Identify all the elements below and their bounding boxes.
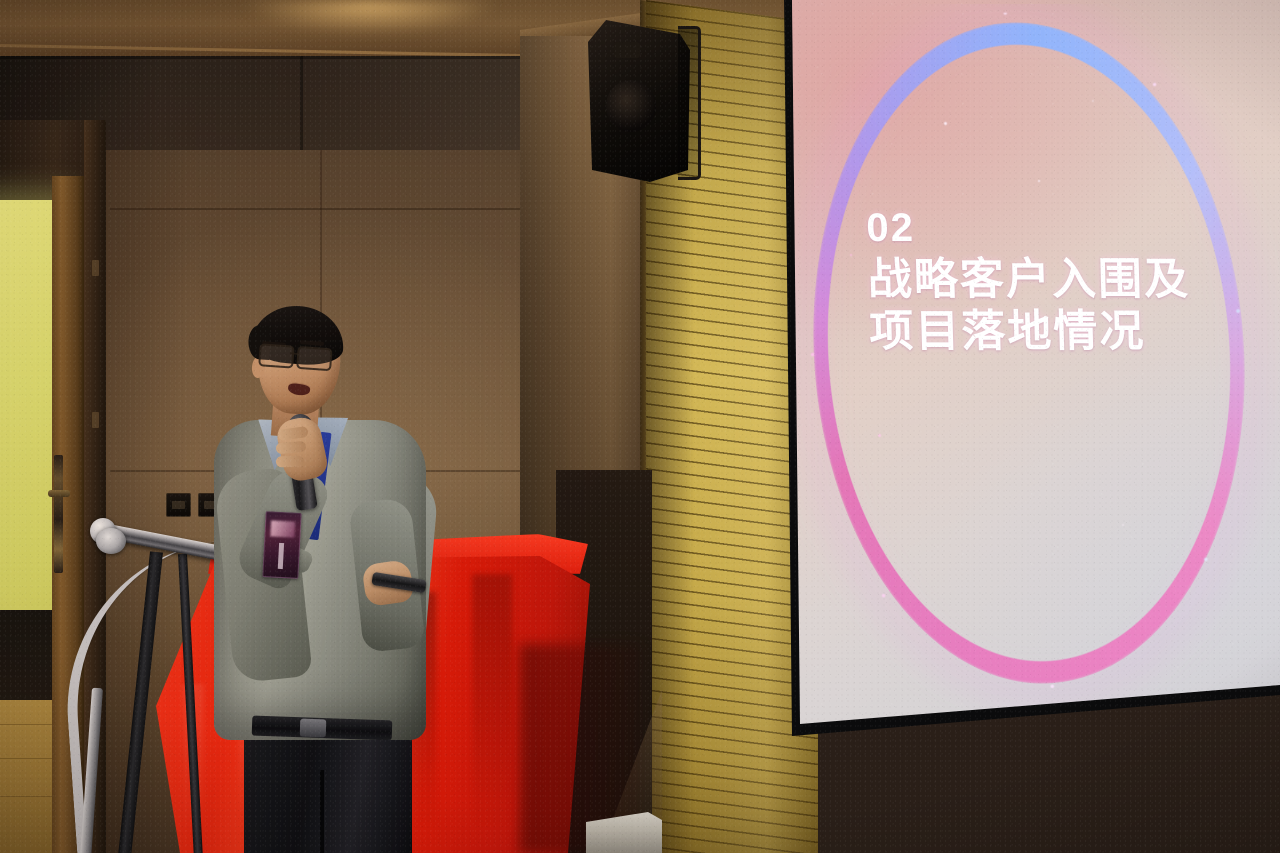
stray-particle-3 [1092,100,1094,102]
trouser-seam [320,770,324,853]
stray-particle-2 [1038,180,1040,182]
loudspeaker-tweeter [614,42,640,58]
loudspeaker-icon [588,20,690,182]
belt-buckle [300,719,327,738]
badge-artwork [270,520,295,537]
stray-particle-5 [1122,524,1124,526]
door-hinge-upper [92,260,99,276]
presenter-trousers [244,728,412,853]
slide-graphic-host [792,4,1280,724]
projection-screen: 02 战略客户入围及 项目落地情况 [772,0,1280,754]
door-hinge-lower [92,412,99,428]
id-badge [262,511,301,579]
ceiling-light-glow [240,0,500,34]
wristwatch-icon [96,528,126,554]
finger-3 [276,456,304,468]
presenter [196,300,456,853]
particle-ring-icon [791,8,1266,698]
wall-seam-top [0,56,540,59]
badge-text-line [278,543,284,569]
loudspeaker-mount-bracket [678,26,701,180]
loudspeaker-woofer [606,80,656,132]
stray-particle-1 [944,122,947,125]
glasses-lens-right [296,346,333,371]
door-handle-lever[interactable] [48,490,70,497]
stray-particle-6 [850,254,852,256]
glasses-lens-left [258,343,295,368]
presentation-photo-scene: 02 战略客户入围及 项目落地情况 [0,0,1280,853]
cloth-shadow-fold-2 [472,574,512,830]
stray-particle-4 [878,434,881,437]
wall-panel-line-1 [110,208,540,210]
